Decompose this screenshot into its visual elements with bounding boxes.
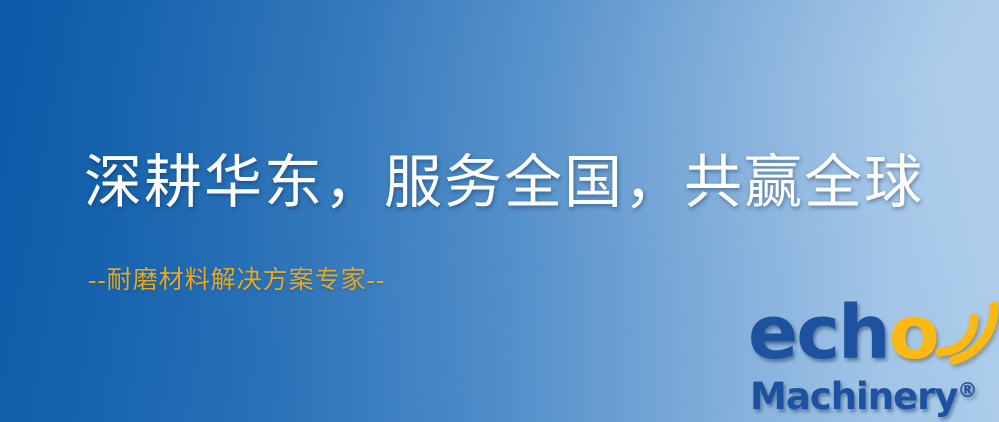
echo-wave-icon: [930, 294, 999, 368]
logo-tagline-text: Machinery: [750, 375, 958, 418]
banner-headline: 深耕华东，服务全国，共赢全球: [84, 150, 924, 217]
banner-subheadline: --耐磨材料解决方案专家--: [88, 266, 385, 296]
logo-wordmark: echo: [748, 296, 938, 370]
registered-trademark-icon: ®: [958, 378, 978, 402]
company-logo[interactable]: echo Machinery®: [748, 300, 999, 422]
logo-wordmark-ech: ech: [748, 290, 889, 376]
promo-banner: 深耕华东，服务全国，共赢全球 --耐磨材料解决方案专家-- echo Machi…: [0, 0, 999, 422]
logo-tagline: Machinery®: [750, 378, 978, 415]
